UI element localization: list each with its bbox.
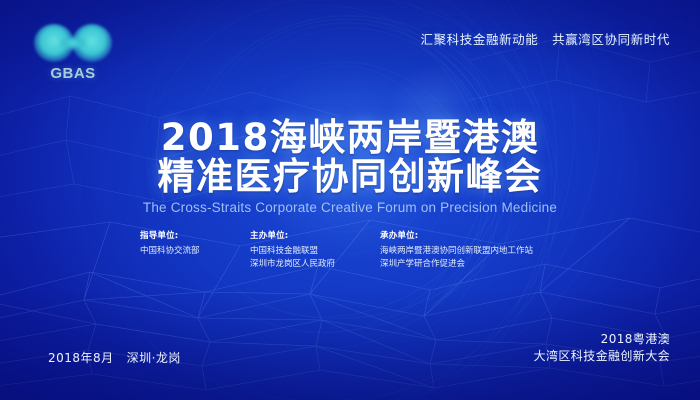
organizer-heading: 承办单位:: [380, 229, 533, 241]
gbas-logo: GBAS: [30, 22, 116, 82]
event-poster: GBAS 汇聚科技金融新动能 共赢湾区协同新时代 2018海峡两岸暨港澳 精准医…: [0, 0, 700, 400]
logo-label: GBAS: [30, 65, 116, 82]
footer-date-location: 2018年8月 深圳·龙岗: [48, 349, 181, 366]
footer-conference-line-1: 2018粤港澳: [534, 331, 670, 348]
title-line-1: 2018海峡两岸暨港澳: [0, 118, 700, 157]
title-line-2: 精准医疗协同创新峰会: [0, 157, 700, 196]
organizer-item: 中国科技金融联盟: [250, 245, 335, 258]
organizer-column-undertaker: 承办单位: 海峡两岸暨港澳协同创新联盟内地工作站 深圳产学研合作促进会: [380, 229, 533, 271]
organizer-item: 海峡两岸暨港澳协同创新联盟内地工作站: [380, 245, 533, 258]
logo-bridge: [60, 36, 86, 50]
gbas-bowtie-icon: [30, 22, 116, 64]
organizer-item: 深圳市龙岗区人民政府: [250, 258, 335, 271]
event-tagline: 汇聚科技金融新动能 共赢湾区协同新时代: [420, 29, 670, 48]
title-block: 2018海峡两岸暨港澳 精准医疗协同创新峰会 The Cross-Straits…: [0, 118, 700, 215]
organizer-column-guidance: 指导单位: 中国科协交流部: [140, 229, 200, 258]
organizer-heading: 主办单位:: [250, 229, 335, 241]
organizer-item: 中国科协交流部: [140, 245, 200, 258]
organizer-item: 深圳产学研合作促进会: [380, 258, 533, 271]
footer-conference-line-2: 大湾区科技金融创新大会: [534, 348, 670, 365]
organizer-heading: 指导单位:: [140, 229, 200, 241]
organizer-column-host: 主办单位: 中国科技金融联盟 深圳市龙岗区人民政府: [250, 229, 335, 271]
footer-conference-name: 2018粤港澳 大湾区科技金融创新大会: [534, 331, 670, 365]
title-subtitle-english: The Cross-Straits Corporate Creative For…: [0, 200, 700, 215]
